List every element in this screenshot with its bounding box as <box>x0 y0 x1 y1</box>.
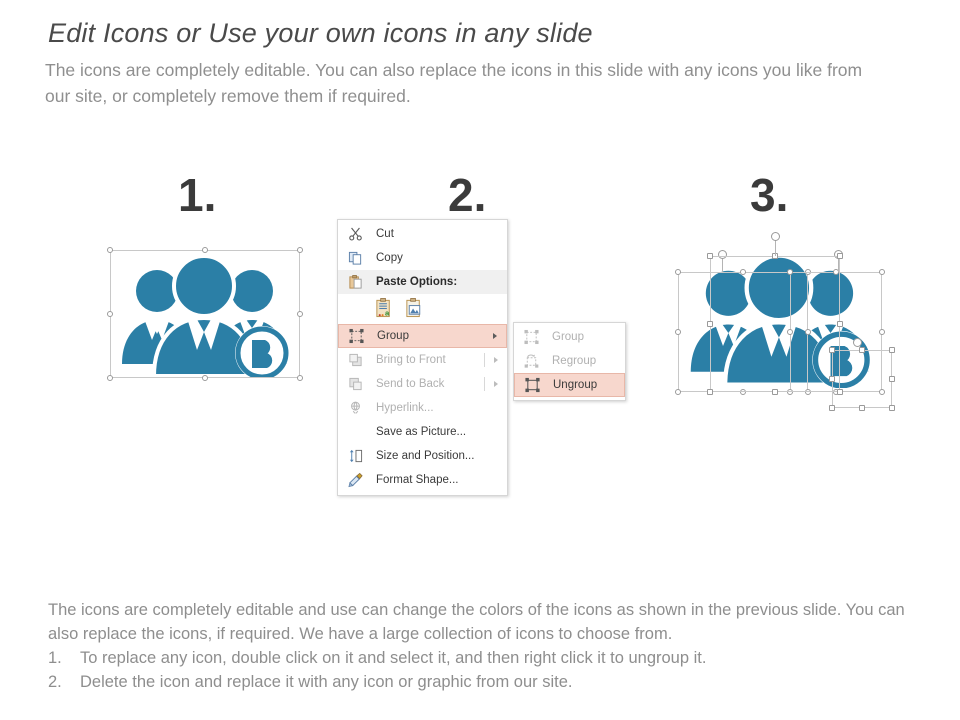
submenu-item-label: Regroup <box>552 355 596 367</box>
group-icon <box>348 328 365 345</box>
scissors-icon <box>347 226 364 243</box>
ungroup-icon <box>524 377 541 394</box>
selection-handle[interactable] <box>805 389 811 395</box>
team-group-icon-ungrouped[interactable] <box>680 248 880 388</box>
copy-icon <box>347 250 364 267</box>
menu-item-format-shape[interactable]: Format Shape... <box>338 468 507 492</box>
menu-item-label: Copy <box>376 252 403 264</box>
selection-handle[interactable] <box>829 347 835 353</box>
selection-handle[interactable] <box>787 389 793 395</box>
paste-keep-text-icon[interactable]: a <box>374 297 395 321</box>
selection-handle[interactable] <box>107 311 113 317</box>
menu-item-bring-to-front[interactable]: Bring to Front <box>338 348 507 372</box>
selection-handle[interactable] <box>297 311 303 317</box>
selection-handle[interactable] <box>859 347 865 353</box>
selection-handle[interactable] <box>787 269 793 275</box>
selection-handle[interactable] <box>829 405 835 411</box>
selection-handle[interactable] <box>675 329 681 335</box>
selection-handle[interactable] <box>202 375 208 381</box>
rotation-stem <box>722 258 723 272</box>
selection-handle[interactable] <box>707 389 713 395</box>
page-title: Edit Icons or Use your own icons in any … <box>48 18 593 49</box>
selection-handle[interactable] <box>879 389 885 395</box>
chevron-right-icon <box>494 357 498 363</box>
context-menu[interactable]: Cut Copy Paste Options: <box>337 219 508 496</box>
selection-handle[interactable] <box>675 269 681 275</box>
menu-item-label: Cut <box>376 228 394 240</box>
paste-options-row: a <box>338 294 507 324</box>
menu-item-send-to-back[interactable]: Send to Back <box>338 372 507 396</box>
menu-divider <box>484 377 485 391</box>
list-text: To replace any icon, double click on it … <box>80 646 706 670</box>
selection-handle[interactable] <box>707 253 713 259</box>
selection-handle[interactable] <box>297 375 303 381</box>
selection-handle[interactable] <box>202 247 208 253</box>
selection-handle[interactable] <box>297 247 303 253</box>
selection-handle[interactable] <box>837 321 843 327</box>
bring-to-front-icon <box>347 352 364 369</box>
selection-handle[interactable] <box>829 376 835 382</box>
rotation-handle[interactable] <box>853 338 862 347</box>
menu-item-label: Save as Picture... <box>376 426 466 438</box>
selection-handle[interactable] <box>805 329 811 335</box>
footer-paragraph: The icons are completely editable and us… <box>48 598 938 646</box>
group-submenu[interactable]: Group Regroup Ungroup <box>513 322 626 401</box>
svg-text:a: a <box>385 309 390 318</box>
rotation-handle[interactable] <box>771 232 780 241</box>
format-shape-icon <box>347 472 364 489</box>
selection-handle[interactable] <box>107 247 113 253</box>
paste-picture-icon[interactable] <box>404 297 425 321</box>
submenu-item-label: Group <box>552 331 584 343</box>
selection-handle[interactable] <box>787 329 793 335</box>
team-group-icon[interactable] <box>112 250 298 378</box>
selection-handle[interactable] <box>889 376 895 382</box>
rotation-stem <box>775 240 776 256</box>
regroup-icon <box>523 353 540 370</box>
footer-list-item-1: 1. To replace any icon, double click on … <box>48 646 938 670</box>
selection-handle[interactable] <box>707 321 713 327</box>
menu-item-group[interactable]: Group <box>338 324 507 348</box>
menu-item-label: Paste Options: <box>376 276 457 288</box>
selection-handle[interactable] <box>879 269 885 275</box>
menu-item-label: Bring to Front <box>376 354 446 366</box>
selection-handle[interactable] <box>740 389 746 395</box>
paste-icon <box>347 274 364 291</box>
chevron-right-icon <box>494 381 498 387</box>
submenu-item-group[interactable]: Group <box>514 325 625 349</box>
hyperlink-icon <box>347 400 364 417</box>
step-number-1: 1. <box>178 172 216 218</box>
selection-handle[interactable] <box>837 389 843 395</box>
selection-handle[interactable] <box>675 389 681 395</box>
page-subtitle: The icons are completely editable. You c… <box>45 57 885 109</box>
footer-note: The icons are completely editable and us… <box>48 598 938 694</box>
selection-handle[interactable] <box>740 269 746 275</box>
rotation-stem <box>838 258 839 272</box>
menu-divider <box>484 353 485 367</box>
group-icon <box>523 329 540 346</box>
footer-list-item-2: 2. Delete the icon and replace it with a… <box>48 670 938 694</box>
step-number-2: 2. <box>448 172 486 218</box>
menu-item-paste-options: Paste Options: <box>338 270 507 294</box>
list-number: 2. <box>48 670 76 694</box>
menu-item-label: Size and Position... <box>376 450 474 462</box>
rotation-handle[interactable] <box>718 250 727 259</box>
menu-item-cut[interactable]: Cut <box>338 222 507 246</box>
send-to-back-icon <box>347 376 364 393</box>
submenu-item-ungroup[interactable]: Ungroup <box>514 373 625 397</box>
selection-handle[interactable] <box>772 389 778 395</box>
menu-item-save-as-picture[interactable]: Save as Picture... <box>338 420 507 444</box>
menu-item-label: Format Shape... <box>376 474 458 486</box>
step-number-3: 3. <box>750 172 788 218</box>
size-position-icon <box>347 448 364 465</box>
selection-handle[interactable] <box>889 347 895 353</box>
menu-item-label: Hyperlink... <box>376 402 434 414</box>
selection-handle[interactable] <box>859 405 865 411</box>
list-text: Delete the icon and replace it with any … <box>80 670 573 694</box>
selection-handle[interactable] <box>107 375 113 381</box>
selection-handle[interactable] <box>805 269 811 275</box>
submenu-item-label: Ungroup <box>553 379 597 391</box>
submenu-item-regroup[interactable]: Regroup <box>514 349 625 373</box>
selection-handle[interactable] <box>837 253 843 259</box>
list-number: 1. <box>48 646 76 670</box>
menu-item-size-and-position[interactable]: Size and Position... <box>338 444 507 468</box>
menu-item-label: Group <box>377 330 409 342</box>
menu-item-label: Send to Back <box>376 378 444 390</box>
menu-item-copy[interactable]: Copy <box>338 246 507 270</box>
chevron-right-icon <box>493 333 497 339</box>
selection-handle[interactable] <box>889 405 895 411</box>
selection-handle[interactable] <box>879 329 885 335</box>
none-icon <box>347 424 364 441</box>
menu-item-hyperlink[interactable]: Hyperlink... <box>338 396 507 420</box>
